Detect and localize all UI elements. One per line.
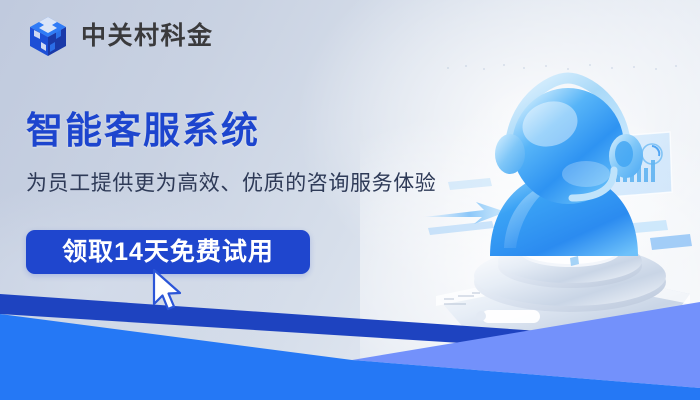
brand-logo[interactable]: 中关村科金 <box>26 14 214 58</box>
promo-banner: 中关村科金 智能客服系统 为员工提供更为高效、优质的咨询服务体验 领取14天免费… <box>0 0 700 400</box>
mouse-pointer-cursor <box>150 268 190 314</box>
headset-earcup-left <box>495 134 525 174</box>
isometric-cube-logo-icon <box>26 14 70 58</box>
hero-headline: 智能客服系统 <box>26 112 260 149</box>
decorative-diagonal-bands <box>0 280 700 400</box>
brand-name-text: 中关村科金 <box>81 24 214 49</box>
free-trial-cta-label: 领取14天免费试用 <box>62 240 274 265</box>
tech-dots <box>447 64 677 70</box>
hero-subheadline: 为员工提供更为高效、优质的咨询服务体验 <box>26 173 436 194</box>
